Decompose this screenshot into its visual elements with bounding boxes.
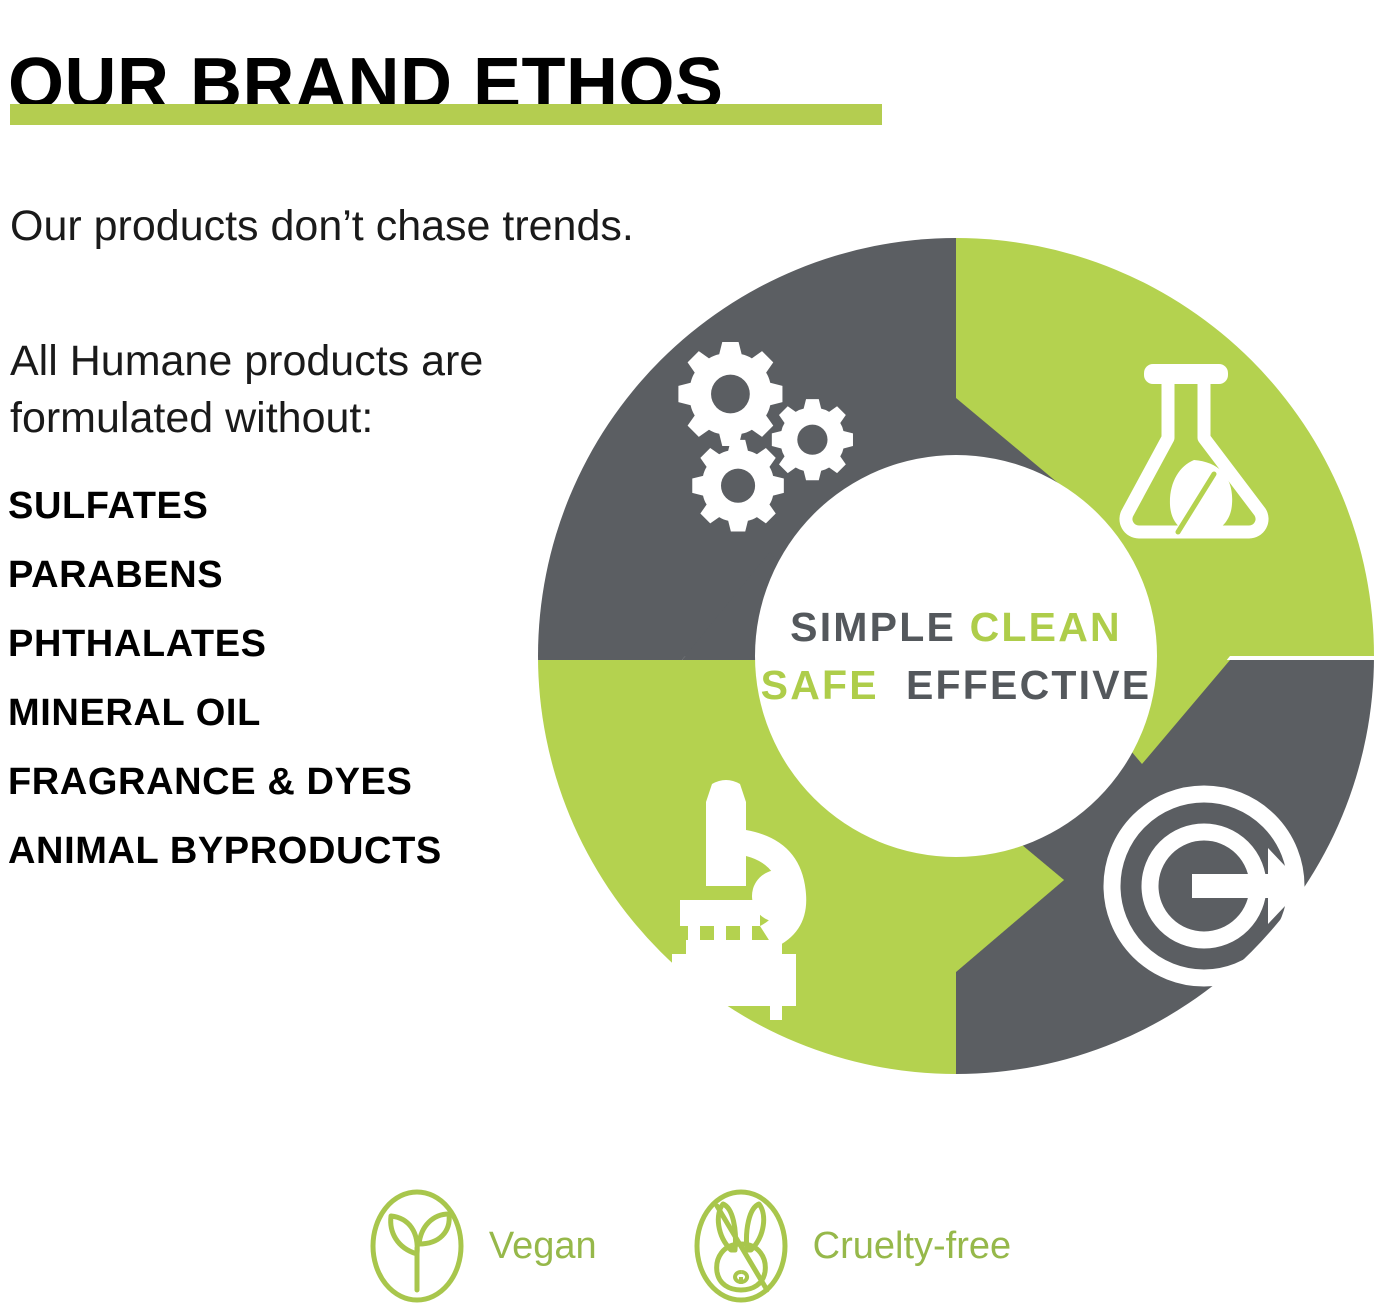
list-item: PARABENS <box>8 556 442 594</box>
ethos-wheel-diagram <box>530 230 1374 1082</box>
badge-label: Vegan <box>489 1225 597 1268</box>
list-item: FRAGRANCE & DYES <box>8 763 442 801</box>
list-item: SULFATES <box>8 487 442 525</box>
free-from-list: SULFATES PARABENS PHTHALATES MINERAL OIL… <box>8 487 442 901</box>
cruelty-free-rabbit-icon <box>687 1186 795 1306</box>
list-item: PHTHALATES <box>8 625 442 663</box>
vegan-sprout-icon <box>363 1186 471 1306</box>
list-item: ANIMAL BYPRODUCTS <box>8 832 442 870</box>
list-item: MINERAL OIL <box>8 694 442 732</box>
title-underline-rule <box>10 104 882 125</box>
certification-badges: Vegan Cruelty-free <box>0 1186 1374 1306</box>
badge-cruelty-free: Cruelty-free <box>687 1186 1012 1306</box>
badge-vegan: Vegan <box>363 1186 597 1306</box>
badge-label: Cruelty-free <box>813 1225 1012 1268</box>
